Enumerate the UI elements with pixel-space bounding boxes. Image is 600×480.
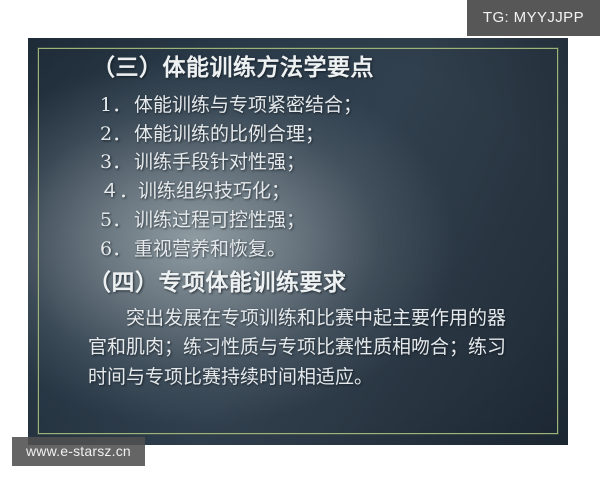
list-item-label: 训练组织技巧化；: [138, 177, 290, 206]
slide-content-area: （三）体能训练方法学要点 1． 体能训练与专项紧密结合； 2． 体能训练的比例合…: [28, 38, 568, 445]
list-item: 3． 训练手段针对性强；: [86, 148, 538, 177]
list-item-label: 体能训练的比例合理；: [134, 120, 324, 149]
list-item: 1． 体能训练与专项紧密结合；: [86, 91, 538, 120]
list-item-marker: ４．: [100, 177, 138, 206]
list-item-label: 训练手段针对性强；: [134, 148, 305, 177]
list-item-marker: 1．: [100, 91, 134, 120]
list-item: 6． 重视营养和恢复。: [86, 235, 538, 264]
list-item-marker: 6．: [100, 235, 134, 264]
body-paragraph: 突出发展在专项训练和比赛中起主要作用的器官和肌肉；练习性质与专项比赛性质相吻合；…: [86, 304, 520, 393]
section-heading-four: （四）专项体能训练要求: [86, 267, 538, 300]
list-item-marker: 3．: [100, 148, 134, 177]
list-item-label: 训练过程可控性强；: [134, 206, 305, 235]
list-item-marker: 2．: [100, 120, 134, 149]
presentation-slide: （三）体能训练方法学要点 1． 体能训练与专项紧密结合； 2． 体能训练的比例合…: [28, 38, 568, 445]
list-item-marker: 5．: [100, 206, 134, 235]
telegram-watermark-badge: TG: MYYJJPP: [467, 0, 600, 36]
list-item: ４． 训练组织技巧化；: [86, 177, 538, 206]
method-points-list: 1． 体能训练与专项紧密结合； 2． 体能训练的比例合理； 3． 训练手段针对性…: [86, 91, 538, 264]
section-heading-three: （三）体能训练方法学要点: [86, 52, 538, 85]
site-watermark: www.e-starsz.cn: [12, 437, 145, 466]
list-item-label: 体能训练与专项紧密结合；: [134, 91, 362, 120]
list-item: 5． 训练过程可控性强；: [86, 206, 538, 235]
list-item: 2． 体能训练的比例合理；: [86, 120, 538, 149]
list-item-label: 重视营养和恢复。: [134, 235, 286, 264]
